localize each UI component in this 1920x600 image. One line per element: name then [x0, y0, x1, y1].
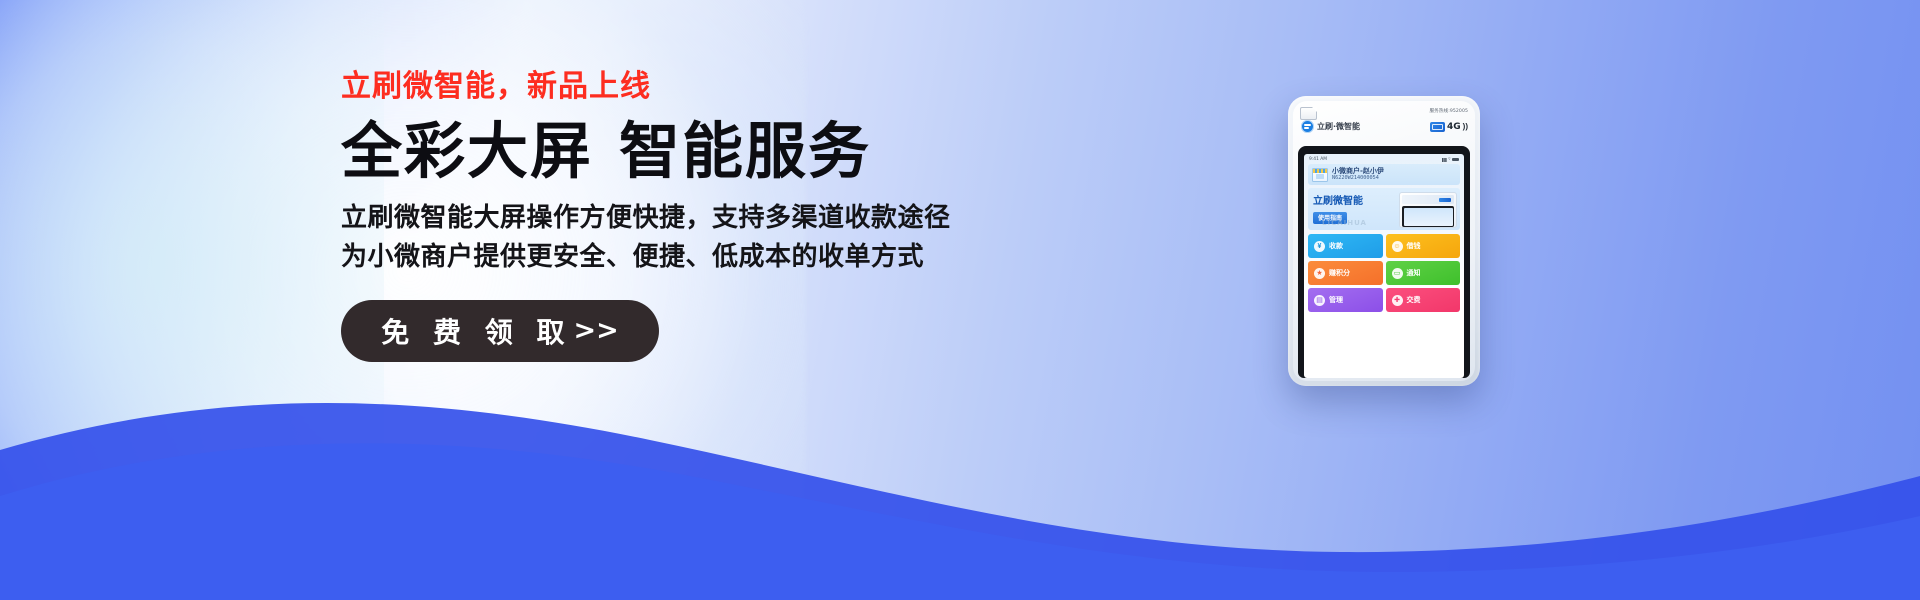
tile-tongzhi[interactable]: ▭ 通知 [1386, 261, 1461, 285]
tile-label: 管理 [1329, 295, 1343, 305]
page-title: 全彩大屏智能服务 [341, 119, 1001, 185]
plus-icon: ✚ [1392, 295, 1403, 306]
promo-banner: 立刷微智能，新品上线 全彩大屏智能服务 立刷微智能大屏操作方便快捷，支持多渠道收… [0, 0, 1920, 600]
merchant-info: 小微商户-赵小伊 N6220W214000054 [1332, 167, 1384, 182]
service-hotline: 服务热线:952005 [1429, 108, 1468, 114]
promo-device-screen [1402, 206, 1454, 227]
watermark-text: LICAIHUA [1322, 219, 1367, 227]
promo-card[interactable]: 立刷微智能 使用指南 LICAIHUA [1308, 188, 1460, 230]
headline-left: 全彩大屏 [341, 116, 593, 187]
tile-label: 交费 [1407, 295, 1421, 305]
tile-label: 收款 [1329, 241, 1343, 251]
tile-label: 通知 [1407, 268, 1421, 278]
pos-brand: 立刷·微智能 [1301, 120, 1360, 133]
free-claim-button[interactable]: 免 费 领 取 >> [341, 300, 659, 362]
signal-waves-icon: )) [1463, 122, 1468, 131]
promo-device-thumbnail [1399, 192, 1457, 228]
sim-card-icon [1430, 122, 1445, 132]
status-time: 9:41 AM [1309, 157, 1327, 162]
shop-icon [1312, 168, 1328, 182]
list-icon: ▤ [1314, 295, 1325, 306]
pos-device-body: 服务热线:952005 立刷·微智能 4G )) 9:4 [1293, 101, 1475, 381]
signal-bars-icon [1442, 158, 1447, 162]
network-indicator: 4G )) [1430, 122, 1468, 132]
tile-label: 借钱 [1407, 241, 1421, 251]
banner-text-block: 立刷微智能，新品上线 全彩大屏智能服务 立刷微智能大屏操作方便快捷，支持多渠道收… [341, 70, 1001, 362]
tile-jieqian[interactable]: ☺ 借钱 [1386, 234, 1461, 258]
tile-shoukuan[interactable]: ¥ 收款 [1308, 234, 1383, 258]
eyebrow-text: 立刷微智能，新品上线 [341, 70, 1001, 103]
yen-icon: ¥ [1314, 241, 1325, 252]
tile-label: 赚积分 [1329, 268, 1350, 278]
headline-right: 智能服务 [619, 116, 871, 187]
merchant-id: N6220W214000054 [1332, 175, 1384, 182]
pos-screen-bezel: 9:41 AM ▿ 小微商户-赵小伊 N6220W214000054 [1298, 146, 1470, 378]
pos-screen: 9:41 AM ▿ 小微商户-赵小伊 N6220W214000054 [1304, 154, 1464, 378]
double-chevron-icon: >> [574, 315, 619, 346]
star-icon: ★ [1314, 268, 1325, 279]
cta-label: 免 费 领 取 [381, 311, 571, 351]
wifi-icon: ▿ [1448, 157, 1450, 162]
battery-icon [1452, 158, 1459, 162]
smiley-icon: ☺ [1392, 241, 1403, 252]
app-tile-grid: ¥ 收款 ☺ 借钱 ★ 赚积分 ▭ 通知 [1308, 234, 1460, 312]
pos-brand-name: 立刷·微智能 [1317, 121, 1360, 132]
subtitle-line-1: 立刷微智能大屏操作方便快捷，支持多渠道收款途径 [341, 199, 1001, 239]
merchant-card[interactable]: 小微商户-赵小伊 N6220W214000054 [1308, 164, 1460, 185]
status-icons: ▿ [1442, 157, 1459, 162]
subtitle-line-2: 为小微商户提供更安全、便捷、低成本的收单方式 [341, 238, 1001, 278]
tile-guanli[interactable]: ▤ 管理 [1308, 288, 1383, 312]
network-label: 4G [1447, 122, 1461, 132]
pos-brand-row: 立刷·微智能 4G )) [1301, 120, 1468, 133]
tile-jiaofei[interactable]: ✚ 交费 [1386, 288, 1461, 312]
merchant-name: 小微商户-赵小伊 [1332, 167, 1384, 175]
promo-device-top [1402, 195, 1454, 204]
pos-device: 服务热线:952005 立刷·微智能 4G )) 9:4 [1288, 96, 1480, 386]
message-icon: ▭ [1392, 268, 1403, 279]
printer-icon [1300, 107, 1317, 120]
tile-zhuanjifen[interactable]: ★ 赚积分 [1308, 261, 1383, 285]
lishua-logo-icon [1301, 120, 1314, 133]
pos-device-header: 服务热线:952005 立刷·微智能 4G )) [1293, 101, 1475, 147]
status-bar: 9:41 AM ▿ [1308, 157, 1460, 164]
